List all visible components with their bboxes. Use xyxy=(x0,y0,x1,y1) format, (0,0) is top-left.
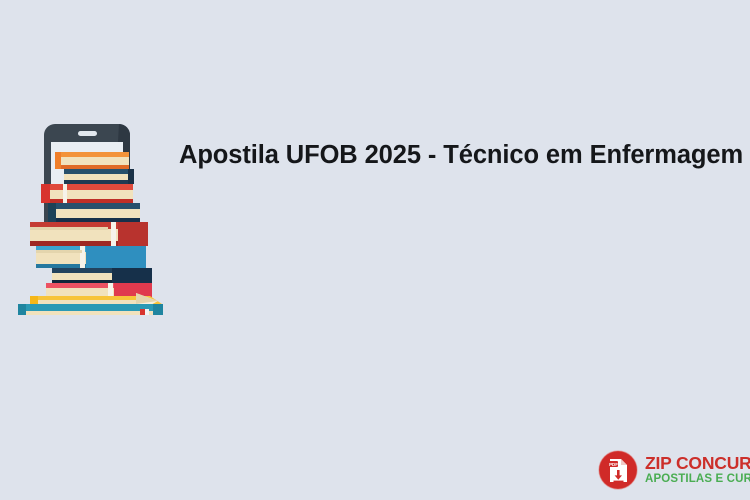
brand-name: ZIP CONCURSOS xyxy=(645,454,750,473)
brand-wordmark: ZIP CONCURSOS APOSTILAS E CURSOS xyxy=(645,454,750,486)
product-title: Apostila UFOB 2025 - Técnico em Enfermag… xyxy=(179,140,719,170)
pdf-download-icon: PDF xyxy=(598,450,638,490)
book-top-orange xyxy=(55,152,129,169)
bookmark-ribbon xyxy=(140,309,149,315)
book-navy-dark xyxy=(52,268,152,283)
book-navy-thin xyxy=(64,169,134,184)
book-blue-large xyxy=(36,246,146,268)
svg-text:PDF: PDF xyxy=(609,462,618,467)
product-banner: Apostila UFOB 2025 - Técnico em Enfermag… xyxy=(0,0,750,500)
brand-logo[interactable]: PDF ZIP CONCURSOS APOSTILAS E CURSOS xyxy=(598,449,734,491)
book-navy-mid xyxy=(48,203,140,222)
book-red xyxy=(41,184,133,203)
book-crimson-large xyxy=(30,222,148,246)
book-bottom-teal xyxy=(18,304,163,315)
books-illustration xyxy=(8,120,176,315)
brand-tagline: APOSTILAS E CURSOS xyxy=(645,473,750,486)
